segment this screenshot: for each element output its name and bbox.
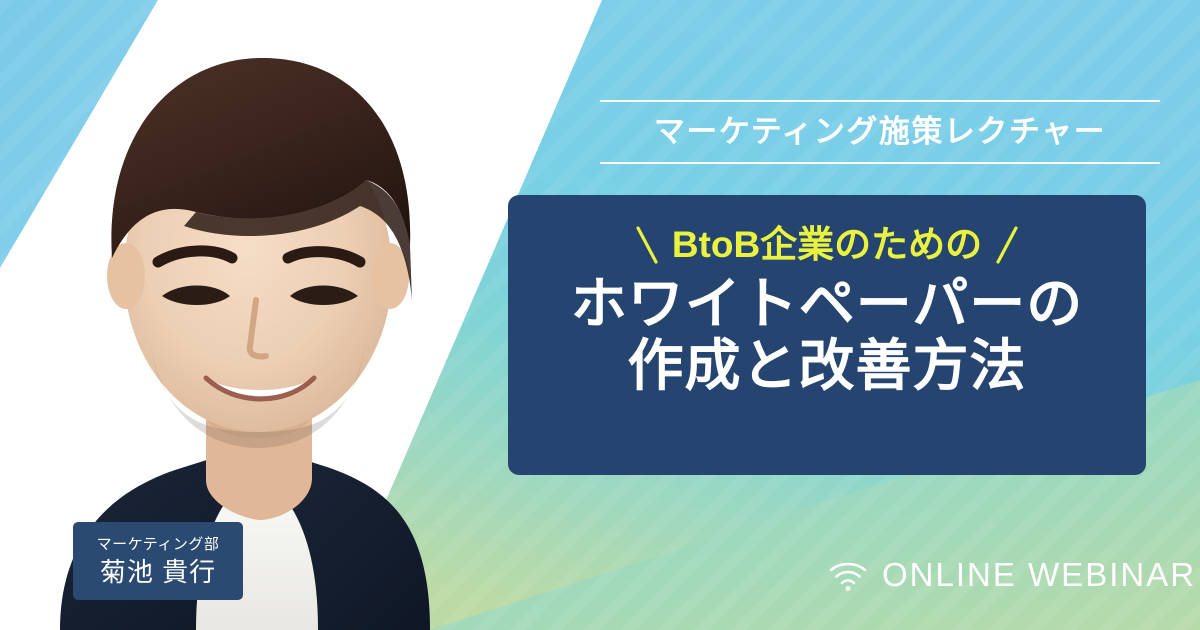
title-line-2: 作成と改善方法 (628, 335, 1027, 397)
title-line-1: ホワイトペーパーの (571, 273, 1083, 335)
online-webinar-label: ONLINE WEBINAR (882, 555, 1196, 595)
header-band: マーケティング施策レクチャー (600, 100, 1160, 172)
online-webinar-badge: ONLINE WEBINAR (828, 552, 1196, 598)
wifi-icon (828, 559, 868, 592)
slash-right-icon (996, 225, 1018, 265)
header-rule-bottom (600, 162, 1160, 164)
speaker-name: 菊池 貴行 (100, 556, 216, 588)
webinar-banner: マーケティング施策レクチャー BtoB企業のための ホワイトペーパーの 作成と改… (0, 0, 1200, 630)
speaker-department: マーケティング部 (97, 535, 220, 555)
title-card: BtoB企業のための ホワイトペーパーの 作成と改善方法 (508, 195, 1146, 475)
eyebrow-row: BtoB企業のための (636, 221, 1018, 269)
eyebrow-text: BtoB企業のための (672, 223, 982, 267)
slash-left-icon (636, 225, 658, 265)
speaker-name-card: マーケティング部 菊池 貴行 (73, 522, 243, 600)
header-label: マーケティング施策レクチャー (600, 108, 1160, 156)
header-rule-top (600, 100, 1160, 102)
